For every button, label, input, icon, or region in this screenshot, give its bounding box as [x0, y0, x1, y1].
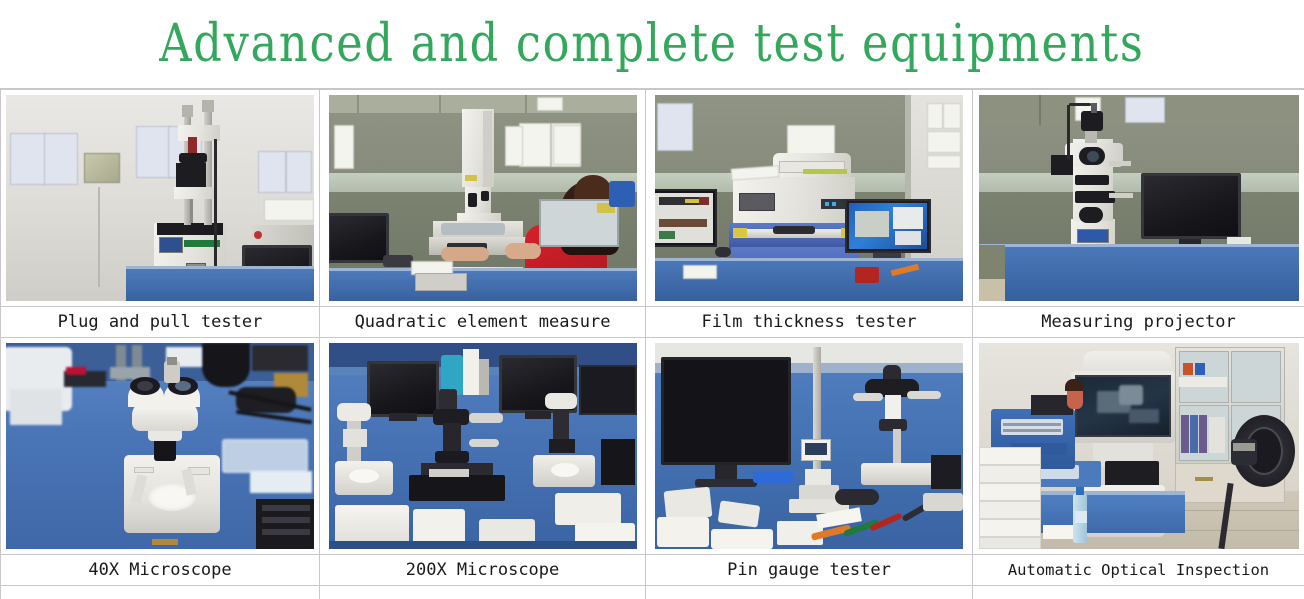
caption-pin-gauge-tester: Pin gauge tester [646, 555, 973, 586]
photo-40x-microscope [6, 343, 314, 549]
photo-row-2 [1, 338, 1304, 555]
caption-40x-microscope: 40X Microscope [1, 555, 320, 586]
caption-row-1: Plug and pull tester Quadratic element m… [1, 307, 1304, 338]
photo-plug-and-pull-tester [6, 95, 314, 301]
photo-measuring-projector [979, 95, 1299, 301]
photo-cell-plug-and-pull-tester[interactable] [1, 90, 320, 307]
photo-automatic-optical-inspection [979, 343, 1299, 549]
photo-cell-automatic-optical-inspection[interactable] [973, 338, 1304, 555]
caption-quadratic-element-measure: Quadratic element measure [320, 307, 646, 338]
equipment-grid: Plug and pull tester Quadratic element m… [0, 89, 1304, 599]
caption-row-2: 40X Microscope 200X Microscope Pin gauge… [1, 555, 1304, 586]
trailing-cell-4 [973, 586, 1304, 599]
photo-cell-40x-microscope[interactable] [1, 338, 320, 555]
equipment-showcase-page: Advanced and complete test equipments [0, 0, 1304, 599]
photo-cell-film-thickness-tester[interactable] [646, 90, 973, 307]
photo-200x-microscope [329, 343, 637, 549]
caption-plug-and-pull-tester: Plug and pull tester [1, 307, 320, 338]
caption-200x-microscope: 200X Microscope [320, 555, 646, 586]
photo-quadratic-element-measure [329, 95, 637, 301]
trailing-row [1, 586, 1304, 599]
photo-cell-pin-gauge-tester[interactable] [646, 338, 973, 555]
trailing-cell-2 [320, 586, 646, 599]
trailing-cell-1 [1, 586, 320, 599]
photo-cell-quadratic-element-measure[interactable] [320, 90, 646, 307]
photo-cell-200x-microscope[interactable] [320, 338, 646, 555]
caption-measuring-projector: Measuring projector [973, 307, 1304, 338]
caption-automatic-optical-inspection: Automatic Optical Inspection [973, 555, 1304, 586]
photo-row-1 [1, 90, 1304, 307]
photo-film-thickness-tester [655, 95, 963, 301]
photo-cell-measuring-projector[interactable] [973, 90, 1304, 307]
page-header: Advanced and complete test equipments [0, 0, 1304, 89]
trailing-cell-3 [646, 586, 973, 599]
page-title: Advanced and complete test equipments [159, 18, 1144, 70]
photo-pin-gauge-tester [655, 343, 963, 549]
caption-film-thickness-tester: Film thickness tester [646, 307, 973, 338]
